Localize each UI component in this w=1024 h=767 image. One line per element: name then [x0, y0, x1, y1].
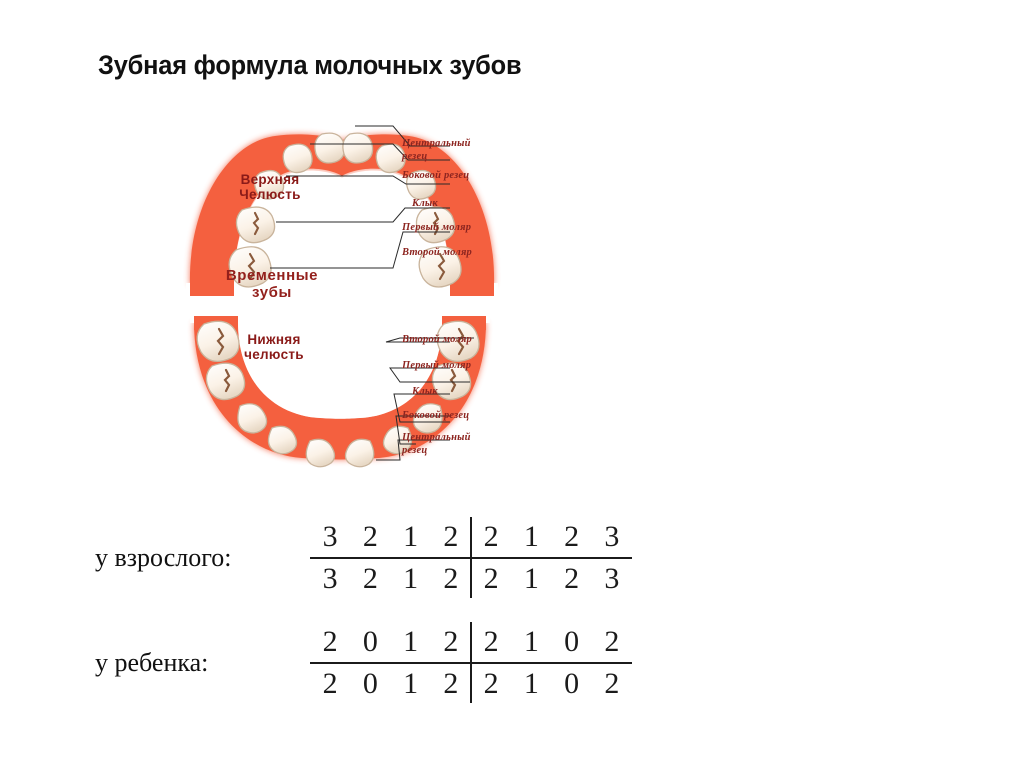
digit: 2: [431, 561, 471, 596]
digit: 3: [592, 519, 632, 554]
label-lower-central-incisor: Центральный резец: [402, 432, 534, 458]
label-lower-canine: Клык: [412, 386, 534, 399]
digit: 2: [592, 666, 632, 701]
digit: 1: [511, 519, 551, 554]
digit: 0: [350, 666, 390, 701]
digit: 2: [471, 561, 511, 596]
label-upper-lateral-incisor: Боковой резец: [402, 170, 534, 183]
formula-label-child: у ребенка:: [95, 648, 310, 678]
digit: 3: [310, 561, 350, 596]
digit: 2: [310, 624, 350, 659]
formula-midline-divider: [470, 517, 472, 598]
label-lower-lateral-incisor: Боковой резец: [402, 410, 534, 423]
digit: 1: [391, 624, 431, 659]
digit: 2: [471, 519, 511, 554]
digit: 0: [552, 666, 592, 701]
digit: 1: [511, 624, 551, 659]
digit: 2: [310, 666, 350, 701]
digit: 2: [552, 519, 592, 554]
digit: 2: [552, 561, 592, 596]
digit: 2: [471, 666, 511, 701]
label-upper-central-incisor: Центральный резец: [402, 138, 534, 164]
formula-grid-child: 2 0 1 2 2 1 0 2 2 0 1 2: [310, 624, 632, 701]
tooth-upper-left-lateral-incisor: [283, 144, 312, 172]
formula-grid-adult: 3 2 1 2 2 1 2 3 3 2 1 2: [310, 519, 632, 596]
digit: 2: [471, 624, 511, 659]
digit: 1: [391, 666, 431, 701]
digit: 3: [592, 561, 632, 596]
tooth-upper-left-canine: [255, 171, 284, 200]
label-upper-second-molar: Второй моляр: [402, 247, 534, 260]
formula-row-adult: у взрослого: 3 2 1 2 2 1 2 3 3: [95, 505, 675, 610]
digit: 2: [350, 519, 390, 554]
tooth-upper-left-central-incisor: [315, 133, 345, 163]
digit: 1: [391, 519, 431, 554]
dental-diagram: Верхняя Челюсть Временные зубы Нижняя че…: [150, 110, 570, 470]
digit: 2: [431, 519, 471, 554]
digit: 0: [350, 624, 390, 659]
tooth-upper-right-central-incisor: [343, 133, 373, 163]
label-lower-second-molar: Второй моляр: [402, 334, 534, 347]
formula-label-adult: у взрослого:: [95, 543, 310, 573]
dental-formula-block: у взрослого: 3 2 1 2 2 1 2 3 3: [95, 505, 675, 715]
label-upper-first-molar: Первый моляр: [402, 222, 534, 235]
formula-midline-divider: [470, 622, 472, 703]
tooth-upper-right-lateral-incisor: [376, 144, 405, 172]
page-title: Зубная формула молочных зубов: [98, 50, 521, 81]
digit: 0: [552, 624, 592, 659]
digit: 1: [511, 666, 551, 701]
digit: 1: [511, 561, 551, 596]
digit: 3: [310, 519, 350, 554]
digit: 1: [391, 561, 431, 596]
formula-row-child: у ребенка: 2 0 1 2 2 1 0 2 2: [95, 610, 675, 715]
digit: 2: [431, 624, 471, 659]
digit: 2: [350, 561, 390, 596]
label-lower-first-molar: Первый моляр: [402, 360, 534, 373]
digit: 2: [592, 624, 632, 659]
digit: 2: [431, 666, 471, 701]
label-upper-canine: Клык: [412, 198, 534, 211]
